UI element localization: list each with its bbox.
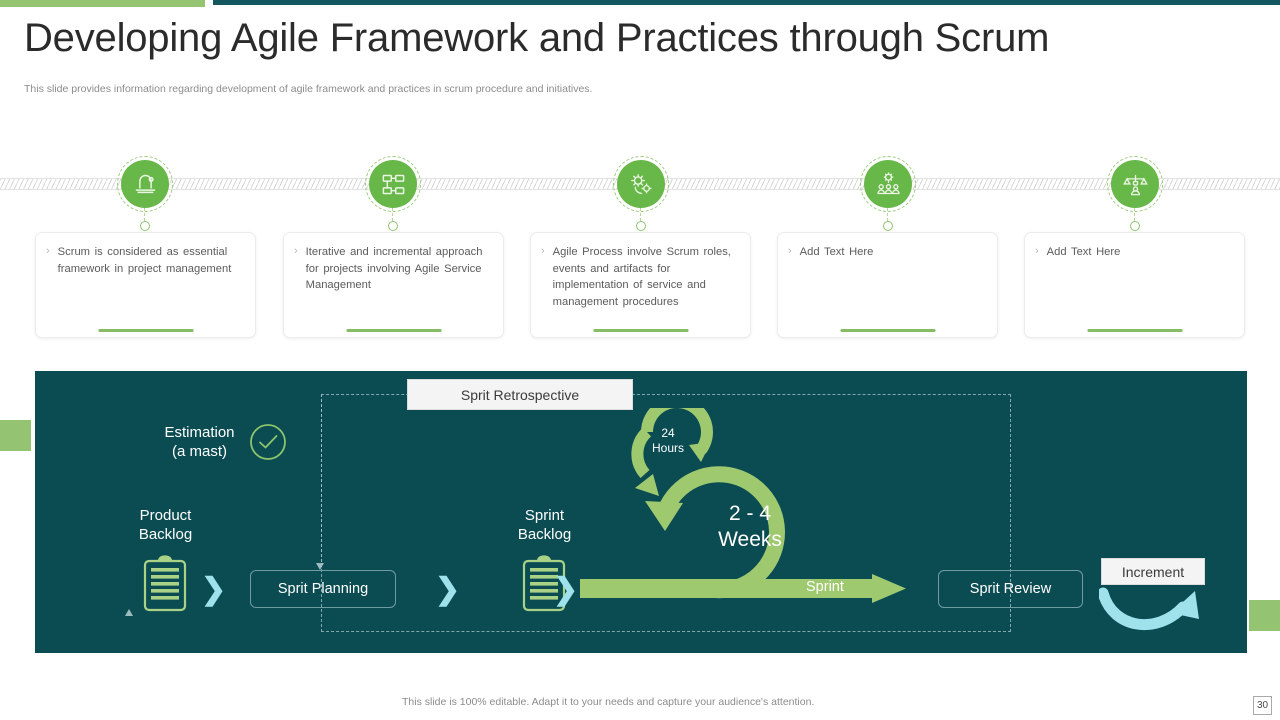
sprint-backlog-line1: Sprint [472,506,617,525]
info-card-1[interactable]: › Scrum is considered as essential frame… [35,232,256,338]
chevron-right-icon: › [788,244,800,261]
connector-ring [1130,221,1140,231]
team-gear-icon [864,160,912,208]
estimation-label-line1: Estimation [147,423,252,442]
timeline-node-1[interactable] [121,160,169,208]
sprint-backlog-label: Sprint Backlog [472,506,617,544]
left-accent-square [0,420,31,451]
page-title: Developing Agile Framework and Practices… [24,16,1049,61]
sprint-duration-label: 2 - 4 Weeks [675,501,825,553]
info-card-text: Add Text Here [800,244,874,261]
info-card-text: Add Text Here [1047,244,1121,261]
right-accent-square [1249,600,1280,631]
backlog-feedback-arrowhead [125,609,133,616]
flow-chevron-3: ❯ [553,575,578,605]
timeline-node-4[interactable] [864,160,912,208]
product-backlog-label: Product Backlog [93,506,238,544]
connector-ring [140,221,150,231]
balance-scale-icon [121,160,169,208]
estimation-label-line2: (a mast) [147,442,252,461]
scrum-process-diagram: Estimation (a mast) Product Backlog ❯ Sp… [35,371,1247,653]
loop-weeks-line1: 2 - 4 [675,501,825,527]
timeline-node-2[interactable] [369,160,417,208]
connector-ring [883,221,893,231]
card-accent-underline [98,329,193,332]
connector-dash [144,208,145,221]
flowchart-icon [369,160,417,208]
chevron-right-icon: › [541,244,553,310]
product-backlog-clipboard-icon [142,554,188,612]
connector-dash [392,208,393,221]
sprint-arrow-label: Sprint [806,579,844,595]
info-card-4[interactable]: › Add Text Here [777,232,998,338]
chevron-right-icon: › [46,244,58,277]
page-number-badge: 30 [1253,696,1272,715]
sprint-retrospective-chip[interactable]: Sprit Retrospective [407,379,633,410]
sprint-arrow [580,574,906,603]
connector-ring [388,221,398,231]
connector-dash [1134,208,1135,221]
retrospective-arrowhead [316,563,324,570]
page-subtitle: This slide provides information regardin… [24,83,592,95]
card-accent-underline [840,329,935,332]
flow-chevron-2: ❯ [435,575,460,605]
timeline-node-5[interactable] [1111,160,1159,208]
increment-curve-arrow [1099,579,1211,635]
product-backlog-line2: Backlog [93,525,238,544]
card-accent-underline [346,329,441,332]
info-card-5[interactable]: › Add Text Here [1024,232,1245,338]
product-backlog-line1: Product [93,506,238,525]
estimation-label: Estimation (a mast) [147,423,252,461]
card-accent-underline [593,329,688,332]
flow-chevron-1: ❯ [201,575,226,605]
chevron-right-icon: › [1035,244,1047,261]
sprint-planning-box[interactable]: Sprit Planning [250,570,396,608]
info-card-2[interactable]: › Iterative and incremental approach for… [283,232,504,338]
info-card-3[interactable]: › Agile Process involve Scrum roles, eve… [530,232,751,338]
top-accent-teal [213,0,1280,5]
connector-ring [636,221,646,231]
footer-note: This slide is 100% editable. Adapt it to… [402,696,814,708]
info-card-text: Scrum is considered as essential framewo… [58,244,243,277]
top-accent-green [0,0,205,7]
sprint-review-box[interactable]: Sprit Review [938,570,1083,608]
gears-icon [617,160,665,208]
connector-dash [640,208,641,221]
scales-team-icon [1111,160,1159,208]
timeline-node-3[interactable] [617,160,665,208]
info-card-text: Iterative and incremental approach for p… [306,244,491,294]
top-accent-bar [0,0,1280,7]
sprint-backlog-line2: Backlog [472,525,617,544]
retrospective-connector-line [321,394,322,567]
card-accent-underline [1087,329,1182,332]
chevron-right-icon: › [294,244,306,294]
increment-chip[interactable]: Increment [1101,558,1205,585]
connector-dash [887,208,888,221]
loop-weeks-line2: Weeks [675,527,825,553]
info-card-text: Agile Process involve Scrum roles, event… [553,244,738,310]
check-circle-icon [249,423,287,461]
